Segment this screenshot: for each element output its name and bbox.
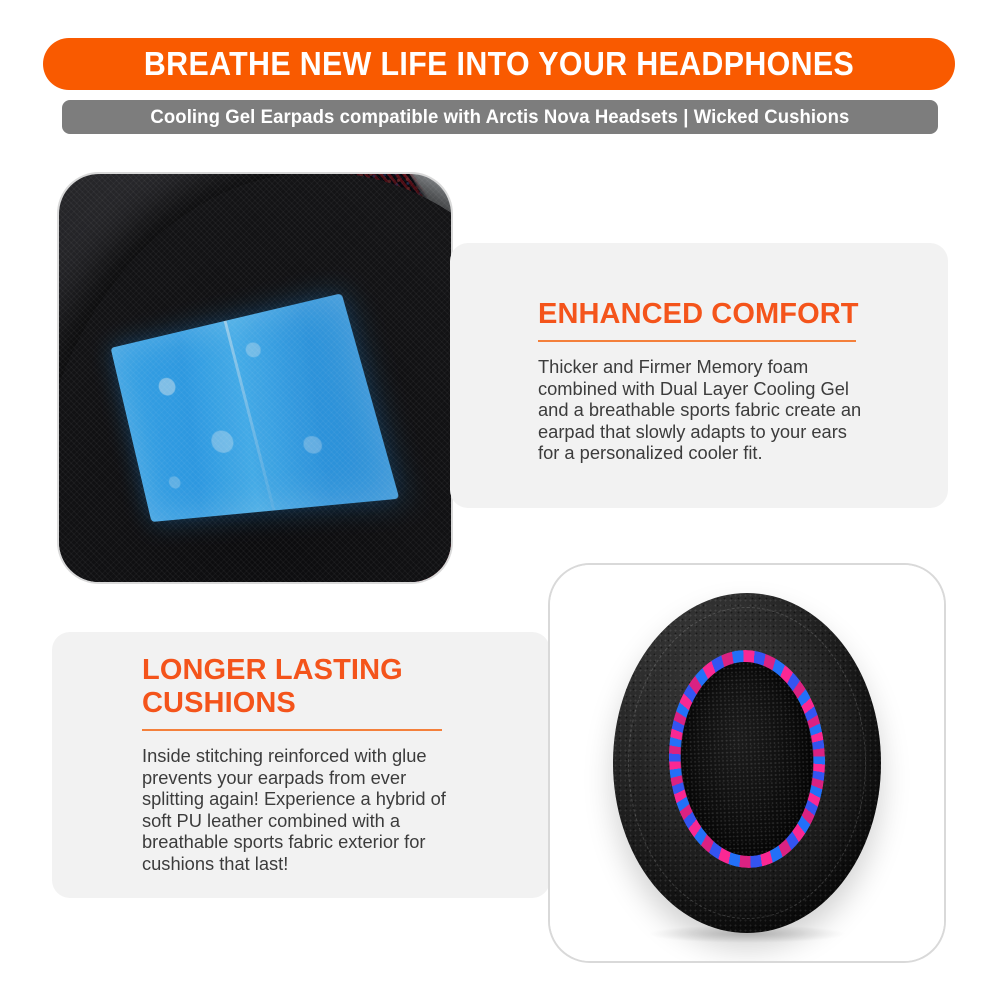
feature-body-longer-lasting-cushions: Inside stitching reinforced with glue pr… bbox=[142, 745, 462, 874]
feature-panel-enhanced-comfort: ENHANCED COMFORT Thicker and Firmer Memo… bbox=[450, 243, 948, 508]
feature-title-enhanced-comfort: ENHANCED COMFORT bbox=[538, 298, 868, 331]
earpad-front-image bbox=[550, 565, 944, 961]
feature-title-rule bbox=[142, 729, 442, 731]
photo-card-earpad-front bbox=[548, 563, 946, 963]
feature-panel-longer-lasting-cushions: LONGER LASTING CUSHIONS Inside stitching… bbox=[52, 632, 550, 898]
feature-text-block: ENHANCED COMFORT Thicker and Firmer Memo… bbox=[538, 298, 868, 464]
subtitle-bar: Cooling Gel Earpads compatible with Arct… bbox=[62, 100, 938, 134]
feature-title-rule bbox=[538, 340, 856, 342]
photo-card-gel-closeup bbox=[57, 172, 453, 584]
banner-title: BREATHE NEW LIFE INTO YOUR HEADPHONES bbox=[144, 45, 854, 83]
feature-title-longer-lasting-cushions: LONGER LASTING CUSHIONS bbox=[142, 654, 462, 720]
feature-text-block: LONGER LASTING CUSHIONS Inside stitching… bbox=[142, 654, 462, 874]
header-banner: BREATHE NEW LIFE INTO YOUR HEADPHONES bbox=[43, 38, 955, 90]
gel-closeup-image bbox=[59, 174, 451, 582]
subtitle-text: Cooling Gel Earpads compatible with Arct… bbox=[150, 106, 849, 129]
feature-body-enhanced-comfort: Thicker and Firmer Memory foam combined … bbox=[538, 356, 868, 464]
